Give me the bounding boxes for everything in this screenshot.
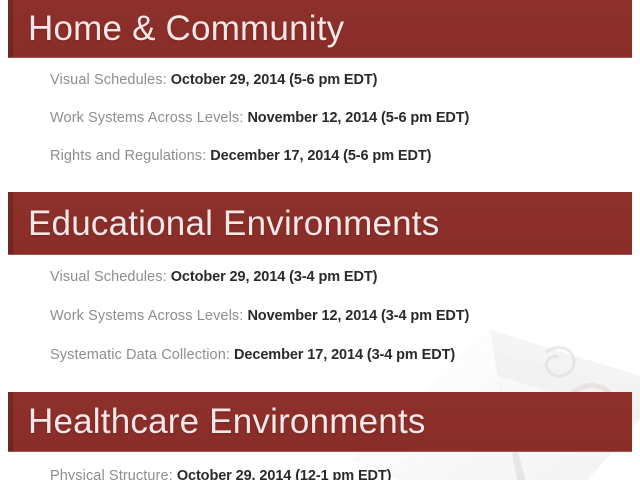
session-item: Work Systems Across Levels: November 12,… <box>50 111 630 149</box>
session-label: Visual Schedules: <box>50 269 167 285</box>
section-title: Educational Environments <box>28 204 439 244</box>
session-label: Physical Structure: <box>50 468 173 480</box>
section-banner: Educational Environments <box>8 192 632 255</box>
session-item: Visual Schedules: October 29, 2014 (3-4 … <box>50 270 630 309</box>
session-list: Physical Structure: October 29, 2014 (12… <box>50 469 630 480</box>
session-label: Rights and Regulations: <box>50 148 206 164</box>
session-date: November 12, 2014 (3-4 pm EDT) <box>247 308 469 324</box>
session-item: Visual Schedules: October 29, 2014 (5-6 … <box>50 73 630 111</box>
session-date: December 17, 2014 (3-4 pm EDT) <box>234 347 455 363</box>
slide-canvas: Home & Community Visual Schedules: Octob… <box>0 0 640 480</box>
session-date: December 17, 2014 (5-6 pm EDT) <box>210 148 431 164</box>
session-date: October 29, 2014 (12-1 pm EDT) <box>177 468 392 480</box>
session-date: November 12, 2014 (5-6 pm EDT) <box>247 110 469 126</box>
section-title: Home & Community <box>28 9 344 49</box>
session-item: Rights and Regulations: December 17, 201… <box>50 149 630 187</box>
section-banner: Home & Community <box>8 0 632 58</box>
session-item: Work Systems Across Levels: November 12,… <box>50 309 630 348</box>
section-title: Healthcare Environments <box>28 402 426 442</box>
session-item: Systematic Data Collection: December 17,… <box>50 348 630 387</box>
section-banner: Healthcare Environments <box>8 392 632 452</box>
session-item: Physical Structure: October 29, 2014 (12… <box>50 469 630 480</box>
session-date: October 29, 2014 (5-6 pm EDT) <box>171 72 378 88</box>
session-label: Visual Schedules: <box>50 72 167 88</box>
session-label: Work Systems Across Levels: <box>50 308 243 324</box>
session-label: Systematic Data Collection: <box>50 347 230 363</box>
session-label: Work Systems Across Levels: <box>50 110 243 126</box>
session-date: October 29, 2014 (3-4 pm EDT) <box>171 269 378 285</box>
session-list: Visual Schedules: October 29, 2014 (5-6 … <box>50 73 630 187</box>
session-list: Visual Schedules: October 29, 2014 (3-4 … <box>50 270 630 387</box>
